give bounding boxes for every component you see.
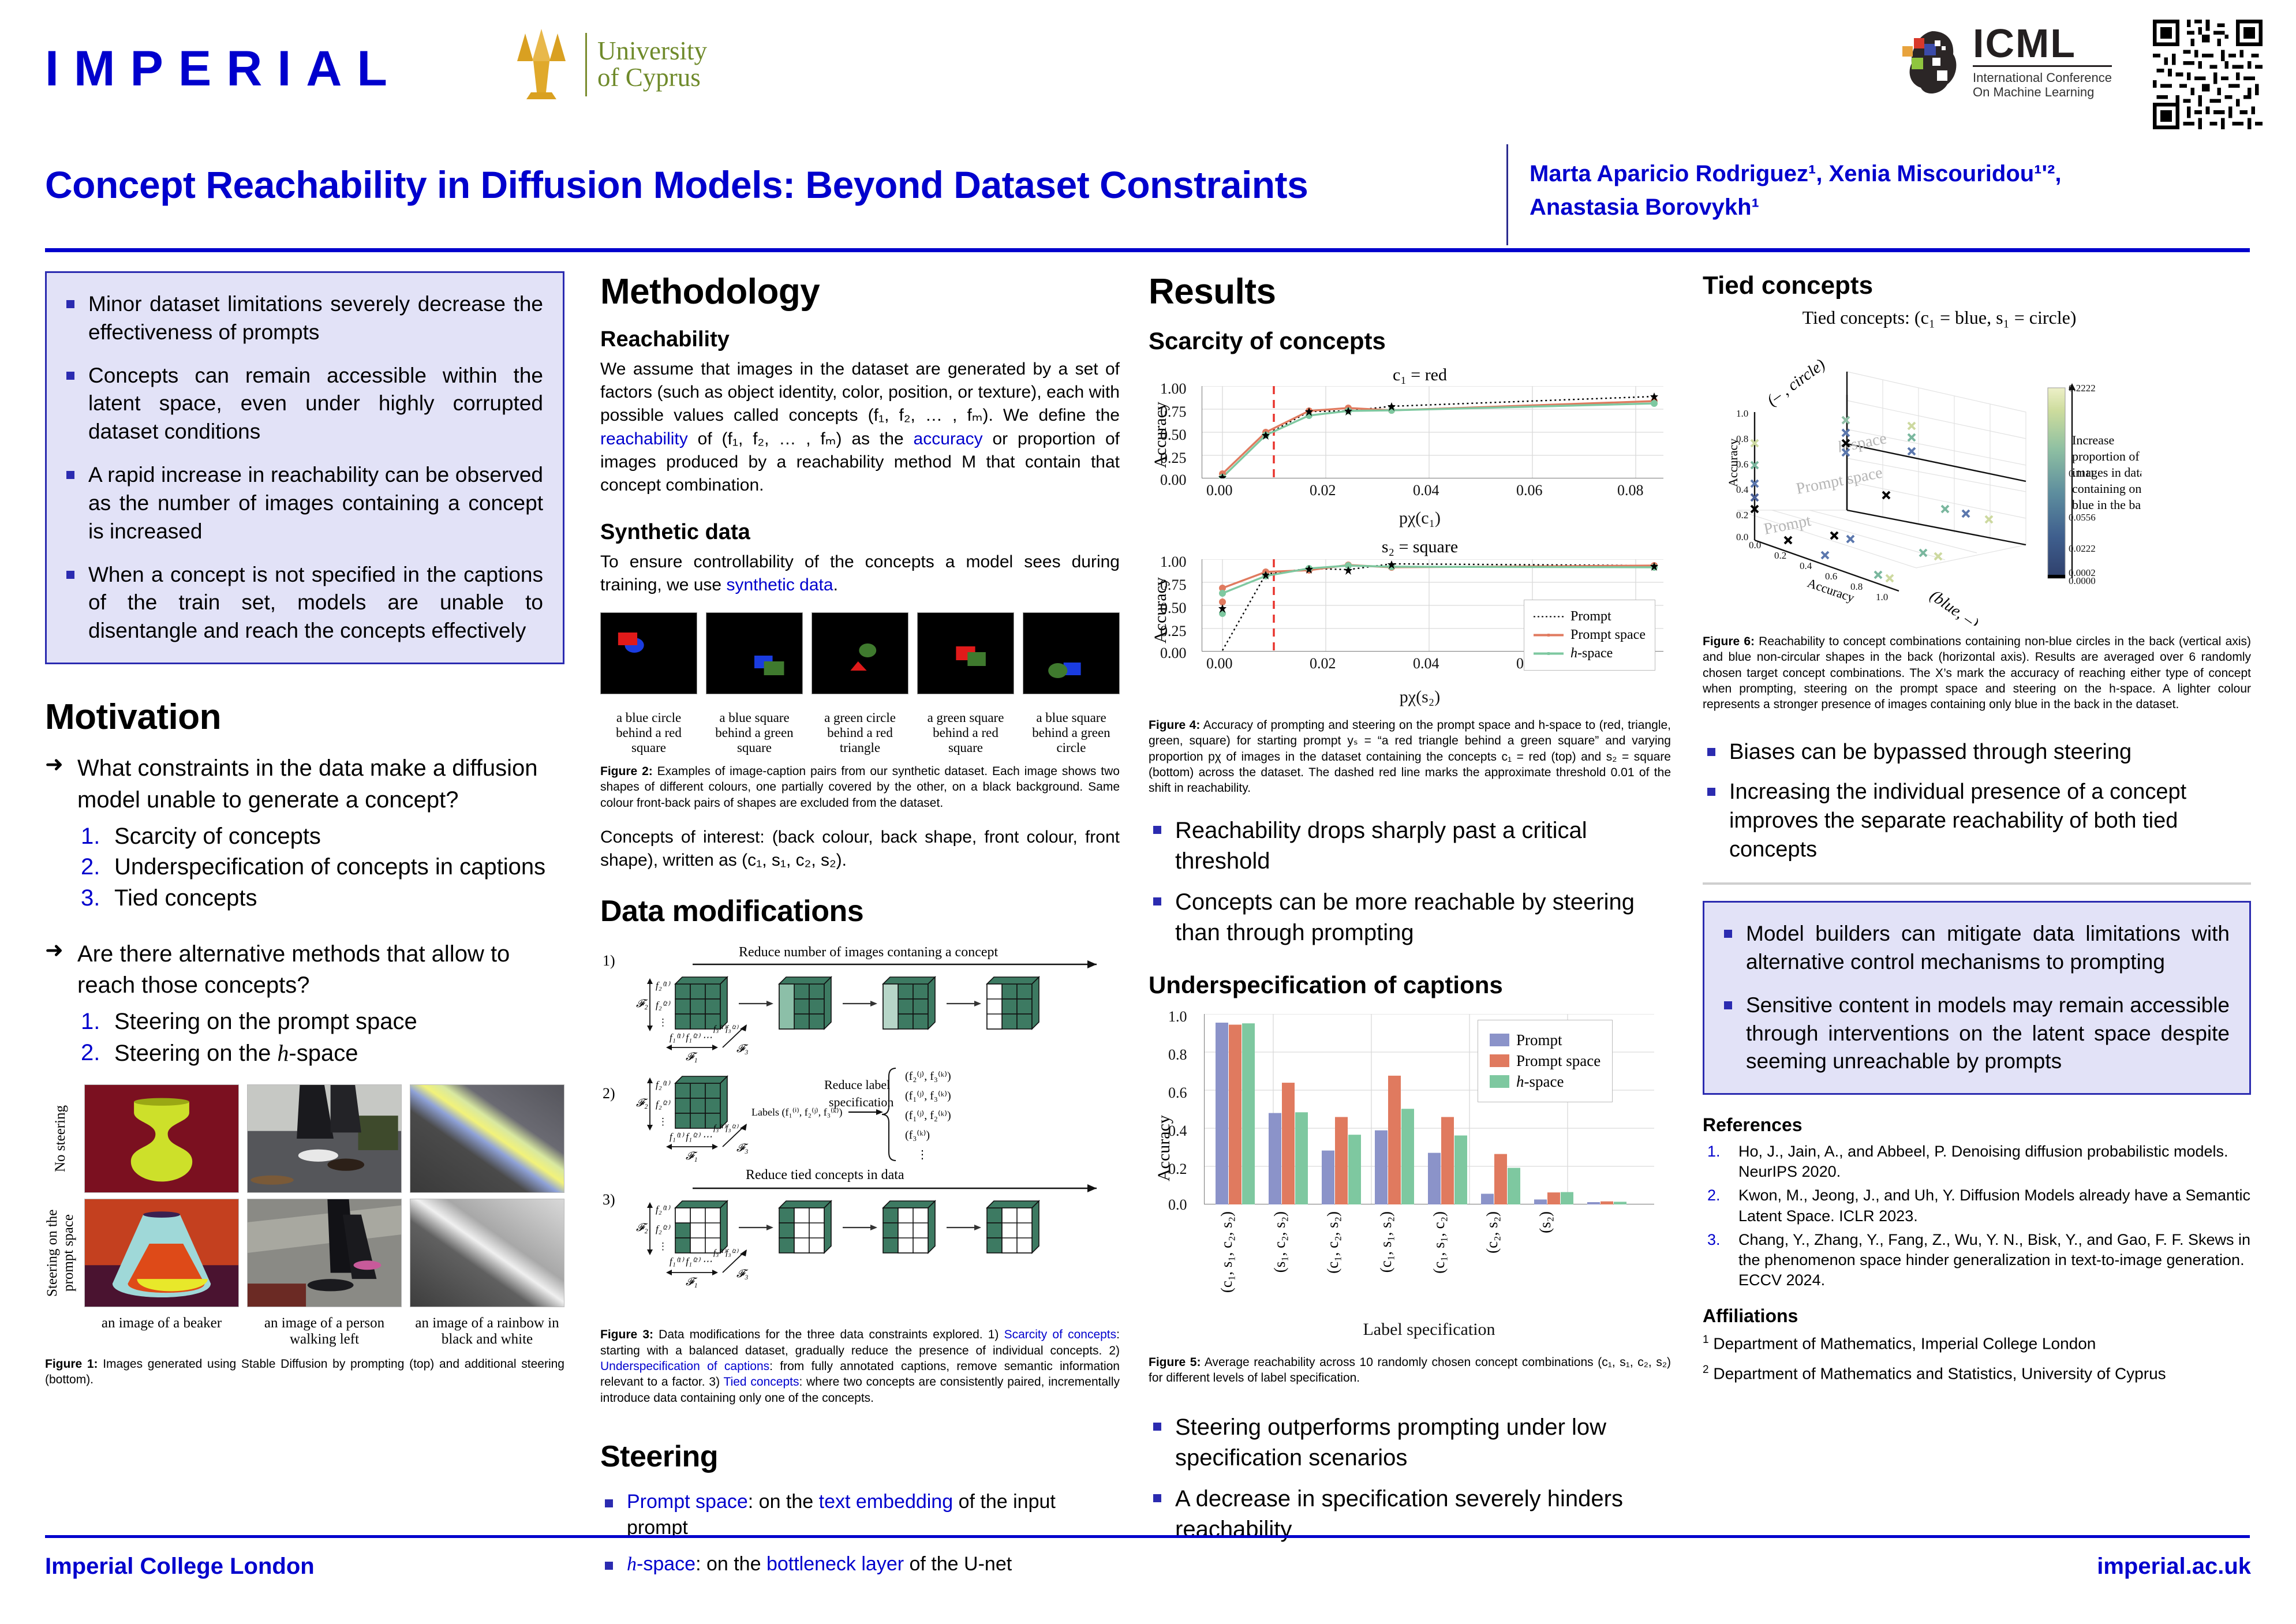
references-list: 1.Ho, J., Jain, A., and Abbeel, P. Denoi… (1703, 1142, 2251, 1290)
svg-text:0.0222: 0.0222 (2069, 543, 2096, 554)
list-item: Concepts can remain accessible within th… (62, 362, 543, 446)
svg-text:(f₁⁽ʲ⁾, f₃⁽ᵏ⁾): (f₁⁽ʲ⁾, f₃⁽ᵏ⁾) (905, 1090, 951, 1102)
motivation-question-1: What constraints in the data make a diff… (45, 753, 564, 815)
column-results: Results Scarcity of concepts c₁ = red Ac… (1149, 271, 1671, 1555)
figure-1-spacer (45, 1313, 76, 1348)
fig5-xtick-2: (c₁, c₂, s₂) (1324, 1211, 1342, 1274)
row-1-label: 1) (603, 952, 615, 969)
fig5-xtick-0: (c₁, s₁, c₂, s₂) (1218, 1211, 1236, 1293)
figure-4-caption-text: Accuracy of prompting and steering on th… (1149, 719, 1671, 795)
item-label: Underspecification of concepts in captio… (114, 854, 545, 880)
list-item: 3.Tied concepts (81, 883, 564, 914)
figure-2-caption: Figure 2: Examples of image-caption pair… (600, 764, 1120, 811)
axis-F2: 𝓕₂ (636, 998, 648, 1010)
reachability-body: We assume that images in the dataset are… (600, 358, 1120, 497)
fig5-legend: Prompt Prompt space h-space (1478, 1020, 1613, 1102)
legend-item-prompt: Prompt (1490, 1031, 1601, 1049)
figure-2-image-5 (1023, 612, 1120, 697)
tied-concepts-heading: Tied concepts (1703, 271, 2251, 300)
svg-text:(f₁⁽ʲ⁾, f₂⁽ᵏ⁾): (f₁⁽ʲ⁾, f₂⁽ᵏ⁾) (905, 1109, 951, 1122)
fig4-top-xlabel: pχ(c₁) (1172, 508, 1668, 528)
svg-text:f₃⁽¹⁾f₃⁽²⁾: f₃⁽¹⁾f₃⁽²⁾ (713, 1124, 739, 1133)
fig4-bottom-ytick-0.25: 0.25 (1160, 623, 1187, 640)
ref-number: 2. (1707, 1185, 1721, 1206)
arrow-1-label: Reduce number of images contaning a conc… (739, 945, 999, 960)
fig6-plot: (– , circle) Accuracy Accuracy (blue, –)… (1703, 337, 2141, 626)
list-item: Biases can be bypassed through steering (1703, 738, 2251, 766)
ucy-line-2: of Cyprus (597, 65, 707, 91)
figure-5-label: Figure 5: (1149, 1356, 1201, 1369)
item-number: 3. (81, 883, 100, 914)
figure-2: a blue circle behind a red square a blue… (600, 612, 1120, 811)
svg-text:0.2222: 0.2222 (2069, 383, 2096, 394)
ref-text: Kwon, M., Jeong, J., and Uh, Y. Diffusio… (1738, 1187, 2250, 1224)
fig4-top-ytick-0.25: 0.25 (1160, 450, 1187, 467)
legend-label-prompt: Prompt (1570, 609, 1611, 624)
column-tied-concepts: Tied concepts Tied concepts: (c₁ = blue,… (1703, 271, 2251, 1393)
figure-2-strip: a blue circle behind a red square a blue… (600, 612, 1120, 756)
affiliation-marker-2: 2 (1703, 1364, 1709, 1376)
axis-F1: 𝓕₁ (686, 1051, 698, 1063)
list-item: 1.Ho, J., Jain, A., and Abbeel, P. Denoi… (1703, 1142, 2251, 1182)
underspec-bullets: Steering outperforms prompting under low… (1149, 1412, 1671, 1544)
item-number: 1. (81, 821, 100, 852)
ref-number: 3. (1707, 1230, 1721, 1250)
steering-list: Prompt space: on the text embedding of t… (600, 1489, 1120, 1578)
svg-text:0.6: 0.6 (1825, 571, 1837, 582)
fig3-link-2: Underspecification of captions (600, 1360, 769, 1373)
fig4-top-ytick-1.00: 1.00 (1160, 380, 1187, 398)
footer-institution: Imperial College London (45, 1554, 315, 1580)
figure-4-caption: Figure 4: Accuracy of prompting and stee… (1149, 717, 1671, 796)
fig3-link-1: Scarcity of concepts (1004, 1328, 1117, 1341)
steering-mid-1: : on the (748, 1491, 819, 1513)
svg-text:𝓕₃: 𝓕₃ (736, 1268, 749, 1280)
affiliation-1: 1 Department of Mathematics, Imperial Co… (1703, 1333, 2251, 1354)
figure-2-image-1 (600, 612, 697, 697)
svg-text:𝓕₂: 𝓕₂ (636, 1097, 648, 1109)
imperial-logo: IMPERIAL (45, 40, 402, 98)
underspec-heading: Underspecification of captions (1149, 971, 1671, 999)
ref-text: Ho, J., Jain, A., and Abbeel, P. Denoisi… (1738, 1143, 2228, 1180)
synthetic-text-1: To ensure controllability of the concept… (600, 552, 1120, 594)
figure-2-image-3 (812, 612, 908, 697)
svg-text:(f₂⁽ʲ⁾, f₃⁽ᵏ⁾): (f₂⁽ʲ⁾, f₃⁽ᵏ⁾) (905, 1070, 951, 1083)
column-methodology: Methodology Reachability We assume that … (600, 271, 1120, 1588)
fig5-xtick-3: (c₁, s₁, s₂) (1377, 1211, 1395, 1273)
key-findings-box: Minor dataset limitations severely decre… (45, 271, 564, 664)
svg-text:(f₃⁽ᵏ⁾): (f₃⁽ᵏ⁾) (905, 1129, 930, 1142)
scarcity-heading: Scarcity of concepts (1149, 327, 1671, 355)
fig4-bottom-xtick-0.04: 0.04 (1413, 655, 1439, 672)
figure-1-row-label-steering: Steering on the prompt space (45, 1199, 76, 1307)
arrow-3-label: Reduce tied concepts in data (746, 1168, 904, 1183)
reachability-link-1: reachability (600, 429, 688, 448)
figure-1-row-label-no-steering: No steering (45, 1084, 76, 1193)
fig6-colorbar-caption-5: blue in the back (2072, 497, 2141, 512)
fig4-top-ytick-0.75: 0.75 (1160, 403, 1187, 421)
svg-text:f₂⁽¹⁾: f₂⁽¹⁾ (656, 1204, 671, 1215)
svg-text:f₂⁽²⁾: f₂⁽²⁾ (656, 1223, 671, 1234)
affiliation-text-1: Department of Mathematics, Imperial Coll… (1713, 1334, 2096, 1352)
legend-label-prompt-space: Prompt space (1570, 627, 1646, 643)
fig5-ytick-1.0: 1.0 (1168, 1008, 1187, 1026)
list-item: Model builders can mitigate data limitat… (1719, 920, 2230, 976)
fig5-xtick-4: (c₁, s₁, c₂) (1430, 1211, 1448, 1274)
fig5-ytick-0.8: 0.8 (1168, 1046, 1187, 1064)
svg-text:0.2: 0.2 (1736, 510, 1748, 521)
svg-text:⋮: ⋮ (658, 1241, 668, 1252)
author-line-1: Marta Aparicio Rodriguez¹, Xenia Miscour… (1530, 157, 2257, 190)
figure-1-image-person-no-steering (247, 1084, 402, 1193)
title-divider (1506, 144, 1508, 245)
figure-1-caption-text: Images generated using Stable Diffusion … (45, 1357, 564, 1386)
figure-1-label: Figure 1: (45, 1357, 98, 1371)
legend-item-prompt-space: Prompt space (1534, 627, 1646, 643)
figure-4-label: Figure 4: (1149, 719, 1200, 732)
motivation-list-2: 1.Steering on the prompt space 2.Steerin… (81, 1006, 564, 1069)
legend-label-h-space: h-space (1516, 1073, 1564, 1091)
fig4-top-xtick-0.06: 0.06 (1516, 482, 1543, 499)
implications-box: Model builders can mitigate data limitat… (1703, 901, 2251, 1095)
concepts-of-interest: Concepts of interest: (back colour, back… (600, 826, 1120, 872)
fig5-ytick-0.6: 0.6 (1168, 1084, 1187, 1102)
ucy-wordmark: University of Cyprus (597, 38, 707, 91)
figure-5-caption-text: Average reachability across 10 randomly … (1149, 1356, 1671, 1384)
fig4-top-xtick-0.00: 0.00 (1206, 482, 1233, 499)
fig4-top-ytick-0.50: 0.50 (1160, 426, 1187, 444)
reachability-link-2: accuracy (914, 429, 983, 448)
svg-text:f₁⁽¹⁾ f₁⁽²⁾ ⋯: f₁⁽¹⁾ f₁⁽²⁾ ⋯ (670, 1256, 712, 1267)
item-label: Steering on the prompt space (114, 1009, 417, 1034)
figure-2-image-2 (706, 612, 803, 697)
legend-item-h-space: h-space (1534, 646, 1646, 661)
svg-text:0.0: 0.0 (1749, 540, 1761, 551)
affiliations-heading: Affiliations (1703, 1305, 2251, 1327)
figure-6-caption-text: Reachability to concept combinations con… (1703, 635, 2251, 711)
reachability-text-1: We assume that images in the dataset are… (600, 360, 1120, 425)
synthetic-link: synthetic data (726, 575, 833, 594)
legend-swatch-prompt (1534, 615, 1564, 618)
svg-text:f₂⁽²⁾: f₂⁽²⁾ (656, 1000, 671, 1011)
svg-text:⋮: ⋮ (658, 1116, 668, 1127)
fig4-bottom-xlabel: pχ(s₂) (1172, 687, 1668, 707)
svg-text:f₂⁽¹⁾: f₂⁽¹⁾ (656, 980, 671, 991)
svg-text:0.0000: 0.0000 (2069, 575, 2096, 586)
fig4-bottom-title: s₂ = square (1212, 537, 1628, 557)
figure-6-label: Figure 6: (1703, 635, 1755, 648)
ucy-line-1: University (597, 38, 707, 65)
figure-1-caption-3: an image of a rainbow in black and white (410, 1313, 564, 1348)
figure-3-caption: Figure 3: Data modifications for the thr… (600, 1327, 1120, 1405)
figure-1-image-rainbow-steering (410, 1199, 564, 1307)
figure-1-image-beaker-steering (84, 1199, 239, 1307)
fig4-top-xtick-0.02: 0.02 (1310, 482, 1336, 499)
figure-2-caption-5: a blue square behind a green circle (1023, 710, 1120, 756)
legend-swatch-prompt (1490, 1034, 1509, 1046)
list-item: 2.Kwon, M., Jeong, J., and Uh, Y. Diffus… (1703, 1185, 2251, 1226)
steering-link-1: text embedding (819, 1491, 953, 1513)
list-item: Increasing the individual presence of a … (1703, 777, 2251, 864)
fig6-colorbar-caption-3: images in dataset (2072, 465, 2141, 480)
item-label: Scarcity of concepts (114, 824, 321, 849)
fig4-bottom-xtick-0.00: 0.00 (1206, 655, 1233, 672)
references-heading: References (1703, 1114, 2251, 1136)
svg-text:f₁⁽¹⁾ f₁⁽²⁾ ⋯: f₁⁽¹⁾ f₁⁽²⁾ ⋯ (670, 1131, 712, 1142)
reachability-text-2: of (f₁, f₂, … , fₘ) as the (688, 429, 914, 448)
chart-fig4-top: c₁ = red Accuracy (1149, 365, 1671, 504)
synthetic-text-2: . (833, 575, 838, 594)
header-rule (45, 248, 2250, 252)
fig4-bottom-xtick-0.02: 0.02 (1310, 655, 1336, 672)
methodology-heading: Methodology (600, 271, 1120, 312)
figure-1-caption: Figure 1: Images generated using Stable … (45, 1356, 564, 1388)
section-divider (1703, 882, 2251, 885)
page-title: Concept Reachability in Diffusion Models… (45, 163, 1476, 207)
fig4-bottom-ytick-0.00: 0.00 (1160, 645, 1187, 662)
fig5-ytick-0.4: 0.4 (1168, 1122, 1187, 1140)
row-2-label: 2) (603, 1085, 615, 1102)
author-line-2: Anastasia Borovykh¹ (1530, 190, 2257, 224)
list-item: Are there alternative methods that allow… (45, 938, 564, 1001)
data-modifications-heading: Data modifications (600, 894, 1120, 929)
ref-text: Chang, Y., Zhang, Y., Fang, Z., Wu, Y. N… (1738, 1231, 2250, 1289)
svg-text:0.6: 0.6 (1736, 459, 1748, 470)
chart-fig6: Tied concepts: (c₁ = blue, s₁ = circle) (1703, 307, 2251, 630)
svg-text:0.4: 0.4 (1736, 484, 1749, 495)
reachability-heading: Reachability (600, 327, 1120, 352)
icml-brain-icon (1899, 28, 1964, 97)
legend-label-prompt: Prompt (1516, 1031, 1562, 1049)
svg-text:0.0556: 0.0556 (2069, 512, 2096, 523)
ref-number: 1. (1707, 1142, 1721, 1162)
figure-3-label: Figure 3: (600, 1328, 653, 1341)
fig5-ytick-0.2: 0.2 (1168, 1161, 1187, 1178)
list-item: Concepts can be more reachable by steeri… (1149, 887, 1671, 948)
synthetic-data-heading: Synthetic data (600, 520, 1120, 545)
figure-2-image-4 (917, 612, 1014, 697)
fig3-t1: Data modifications for the three data co… (653, 1328, 1004, 1341)
tied-bullets: Biases can be bypassed through steering … (1703, 738, 2251, 864)
legend-swatch-prompt-space (1534, 634, 1564, 637)
steering-term-1: Prompt space (627, 1491, 748, 1513)
ucy-divider (585, 33, 587, 96)
svg-text:⋮: ⋮ (917, 1148, 928, 1161)
fig4-top-xtick-0.08: 0.08 (1617, 482, 1644, 499)
icml-word: ICML (1973, 24, 2112, 63)
figure-1: No steering (45, 1084, 564, 1388)
steering-tail-2: of the U-net (904, 1553, 1012, 1575)
figure-5-caption: Figure 5: Average reachability across 10… (1149, 1354, 1671, 1386)
figure-1-image-rainbow-no-steering (410, 1084, 564, 1193)
fig3-link-3: Tied concepts (724, 1375, 799, 1389)
fig6-title: Tied concepts: (c₁ = blue, s₁ = circle) (1720, 307, 2159, 328)
list-item: 2.Steering on the h-space (81, 1038, 564, 1069)
list-item: 2.Underspecification of concepts in capt… (81, 852, 564, 883)
figure-2-caption-4: a green square behind a red square (917, 710, 1014, 756)
list-item: What constraints in the data make a diff… (45, 753, 564, 815)
fig5-xticklabels: (c₁, s₁, c₂, s₂) (s₁, c₂, s₂) (c₁, c₂, s… (1204, 1211, 1654, 1309)
fig4-top-plot (1202, 386, 1663, 478)
figure-2-caption-3: a green circle behind a red triangle (812, 710, 908, 756)
affiliation-text-2: Department of Mathematics and Statistics… (1713, 1364, 2166, 1382)
svg-text:𝓕₃: 𝓕₃ (736, 1142, 749, 1154)
fig5-xlabel: Label specification (1204, 1320, 1654, 1339)
list-item: 3.Chang, Y., Zhang, Y., Fang, Z., Wu, Y.… (1703, 1230, 2251, 1290)
figure-1-image-person-steering (247, 1199, 402, 1307)
svg-text:𝓕₁: 𝓕₁ (686, 1276, 698, 1288)
cyprus-tree-icon (508, 28, 575, 102)
chart-fig4-bottom: s₂ = square Accuracy (1149, 537, 1671, 682)
icml-subtitle: International Conference On Machine Lear… (1973, 65, 2112, 100)
list-item: A rapid increase in reachability can be … (62, 461, 543, 545)
legend-label-h-space: h-space (1570, 646, 1613, 661)
poster-header: IMPERIAL University of Cyprus ICM (0, 0, 2296, 124)
svg-text:0.8: 0.8 (1736, 433, 1748, 444)
legend-swatch-h-space (1490, 1075, 1509, 1088)
results-heading: Results (1149, 271, 1671, 312)
svg-text:1.0: 1.0 (1736, 408, 1748, 419)
affiliation-marker-1: 1 (1703, 1334, 1709, 1346)
legend-label-prompt-space: Prompt space (1516, 1052, 1601, 1070)
figure-2-caption-text: Examples of image-caption pairs from our… (600, 765, 1120, 810)
figure-2-caption-1: a blue circle behind a red square (600, 710, 697, 756)
legend-swatch-prompt-space (1490, 1054, 1509, 1067)
svg-text:0.4: 0.4 (1800, 560, 1812, 571)
svg-text:f₂⁽²⁾: f₂⁽²⁾ (656, 1099, 671, 1110)
author-list: Marta Aparicio Rodriguez¹, Xenia Miscour… (1530, 157, 2257, 224)
motivation-list-1: 1.Scarcity of concepts 2.Underspecificat… (81, 821, 564, 914)
reduce-label-spec-1: Reduce label (824, 1077, 890, 1092)
legend-item-prompt-space: Prompt space (1490, 1052, 1601, 1070)
fig6-colorbar-caption-1: Increase (2072, 433, 2114, 447)
fig5-ytick-0.0: 0.0 (1168, 1196, 1187, 1214)
fig4-top-title: c₁ = red (1212, 365, 1628, 385)
fig4-legend: Prompt Prompt space h-space (1524, 600, 1655, 671)
figure-1-caption-2: an image of a person walking left (247, 1313, 402, 1348)
footer-rule (45, 1535, 2250, 1538)
legend-item-h-space: h-space (1490, 1073, 1601, 1091)
icml-sub-line-1: International Conference (1973, 70, 2112, 85)
svg-text:1.0: 1.0 (1876, 592, 1888, 603)
svg-text:f₃⁽¹⁾f₃⁽²⁾: f₃⁽¹⁾f₃⁽²⁾ (713, 1248, 739, 1258)
figure-2-caption-2: a blue square behind a green square (706, 710, 803, 756)
figure-3-diagram: Reduce number of images contaning a conc… (600, 944, 1120, 1324)
svg-text:0.8: 0.8 (1850, 581, 1863, 592)
qr-code-icon[interactable] (2153, 20, 2263, 129)
icml-wordmark: ICML International Conference On Machine… (1973, 24, 2112, 100)
fig6-colorbar-caption-4: containing only (2072, 481, 2141, 496)
fig4-top-ytick-0.00: 0.00 (1160, 472, 1187, 489)
svg-text:0.0: 0.0 (1736, 532, 1748, 542)
chart-fig5: Accuracy (1149, 1008, 1671, 1349)
steering-heading: Steering (600, 1439, 1120, 1474)
column-findings: Minor dataset limitations severely decre… (45, 271, 564, 1387)
key-findings-list: Minor dataset limitations severely decre… (62, 290, 543, 645)
item-number: 2. (81, 1038, 100, 1069)
fig6-colorbar-caption-2: proportion of (2072, 449, 2140, 463)
figure-1-caption-1: an image of a beaker (84, 1313, 239, 1348)
fig5-xtick-1: (s₁, c₂, s₂) (1271, 1211, 1289, 1273)
motivation-question-2: Are there alternative methods that allow… (45, 938, 564, 1001)
list-item: When a concept is not specified in the c… (62, 561, 543, 645)
motivation-heading: Motivation (45, 697, 564, 738)
fig4-bottom-ytick-0.75: 0.75 (1160, 577, 1187, 594)
fig4-bottom-ytick-0.50: 0.50 (1160, 600, 1187, 617)
axis-F3: 𝓕₃ (736, 1043, 749, 1055)
scarcity-bullets: Reachability drops sharply past a critic… (1149, 815, 1671, 948)
fig5-xtick-6: (s₂) (1536, 1211, 1554, 1233)
footer-url[interactable]: imperial.ac.uk (2097, 1554, 2251, 1580)
svg-text:f₁⁽¹⁾ f₁⁽²⁾ ⋯: f₁⁽¹⁾ f₁⁽²⁾ ⋯ (670, 1032, 712, 1043)
fig4-bottom-ytick-1.00: 1.00 (1160, 553, 1187, 571)
figure-2-label: Figure 2: (600, 765, 653, 778)
affiliation-2: 2 Department of Mathematics and Statisti… (1703, 1363, 2251, 1384)
figure-1-image-beaker-no-steering (84, 1084, 239, 1193)
list-item: Minor dataset limitations severely decre… (62, 290, 543, 347)
fig5-xtick-5: (c₂, s₂) (1483, 1211, 1501, 1253)
fig4-top-xtick-0.04: 0.04 (1413, 482, 1439, 499)
list-item: Steering outperforms prompting under low… (1149, 1412, 1671, 1473)
icml-sub-line-2: On Machine Learning (1973, 85, 2112, 100)
svg-text:𝓕₂: 𝓕₂ (636, 1222, 648, 1234)
item-number: 1. (81, 1006, 100, 1038)
steering-link-2: bottleneck layer (766, 1553, 904, 1575)
list-item: Sensitive content in models may remain a… (1719, 991, 2230, 1076)
svg-text:𝓕₁: 𝓕₁ (686, 1150, 698, 1162)
reduce-label-spec-2: specification (829, 1095, 893, 1109)
list-item: 1.Steering on the prompt space (81, 1006, 564, 1038)
list-item: Reachability drops sharply past a critic… (1149, 815, 1671, 877)
university-of-cyprus-logo: University of Cyprus (508, 28, 707, 102)
item-number: 2. (81, 852, 100, 883)
legend-swatch-h-space (1534, 652, 1564, 655)
title-band: Concept Reachability in Diffusion Models… (0, 144, 2296, 251)
synthetic-data-body: To ensure controllability of the concept… (600, 551, 1120, 597)
list-item: 1.Scarcity of concepts (81, 821, 564, 852)
list-item: h-space: on the bottleneck layer of the … (600, 1551, 1120, 1578)
svg-text:f₂⁽¹⁾: f₂⁽¹⁾ (656, 1079, 671, 1090)
svg-text:0.2: 0.2 (1774, 550, 1786, 561)
implications-list: Model builders can mitigate data limitat… (1719, 920, 2230, 1076)
icml-logo: ICML International Conference On Machine… (1899, 24, 2112, 100)
svg-text:⋮: ⋮ (658, 1017, 668, 1028)
list-item: Prompt space: on the text embedding of t… (600, 1489, 1120, 1541)
legend-item-prompt: Prompt (1534, 609, 1646, 624)
row-3-label: 3) (603, 1191, 615, 1208)
svg-text:f₃⁽¹⁾f₃⁽²⁾: f₃⁽¹⁾f₃⁽²⁾ (713, 1024, 739, 1034)
item-label: Tied concepts (114, 885, 257, 911)
figure-6-caption: Figure 6: Reachability to concept combin… (1703, 634, 2251, 712)
steering-mid-2: : on the (695, 1553, 766, 1575)
item-label: Steering on the h-space (114, 1041, 358, 1066)
